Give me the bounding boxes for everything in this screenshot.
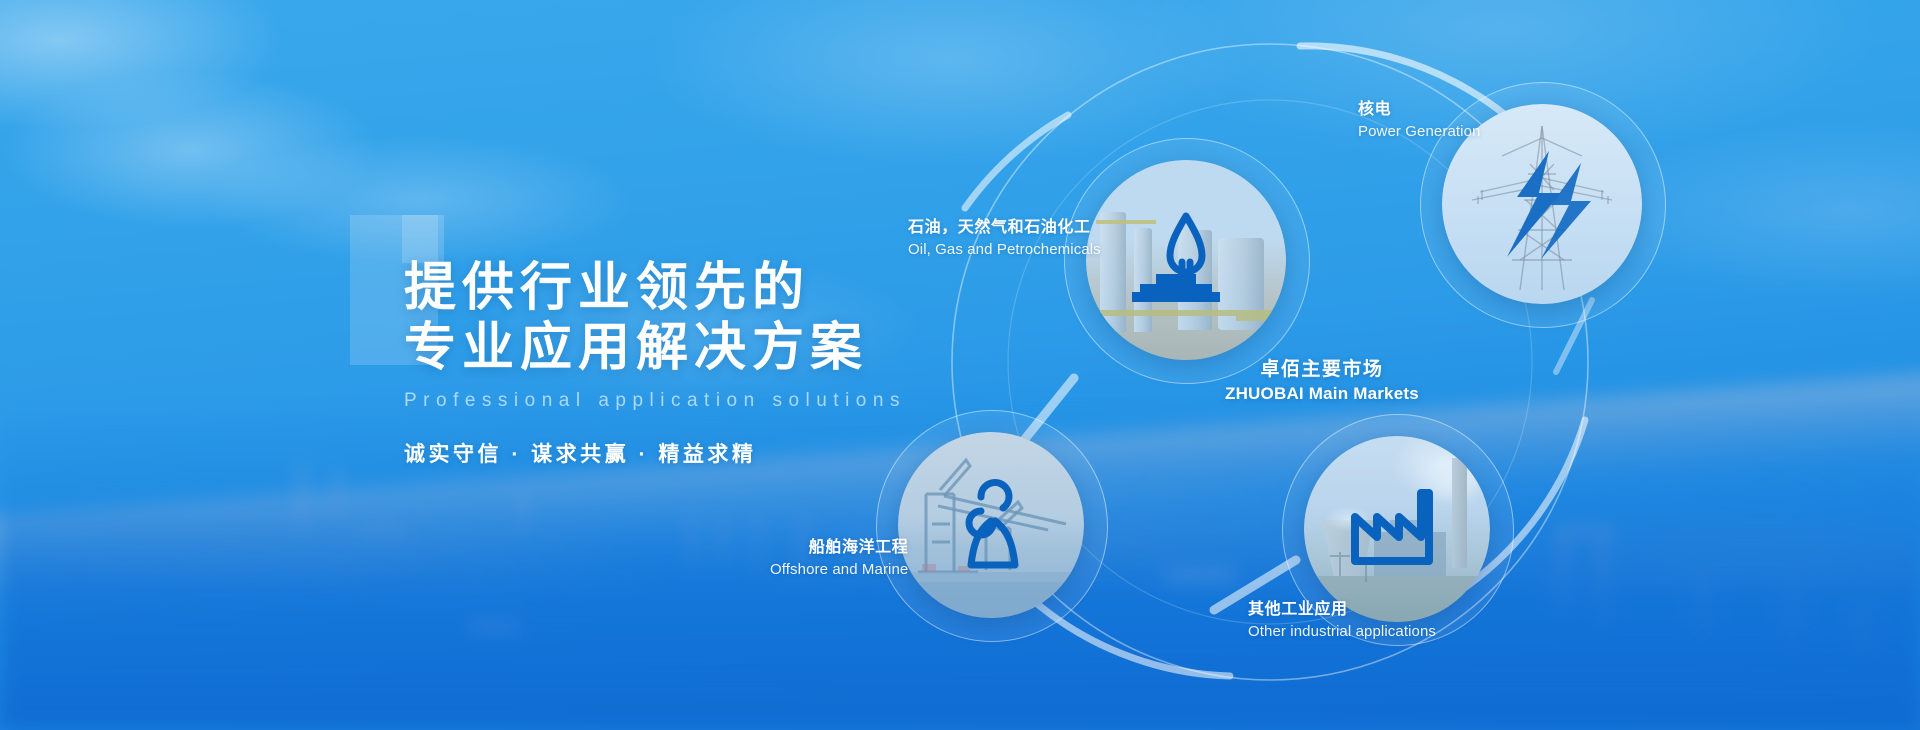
- node-photo-disc: [1304, 436, 1490, 622]
- node-photo-disc: [1086, 160, 1286, 360]
- label-market-power: 核电 Power Generation: [1358, 100, 1481, 142]
- hero-banner: 提供行业领先的 专业应用解决方案 Professional applicatio…: [0, 0, 1920, 730]
- gas-flame-icon: [1086, 160, 1286, 360]
- label-industry-en: Other industrial applications: [1248, 622, 1436, 642]
- headline-subtitle-english: Professional application solutions: [404, 390, 906, 412]
- headline-line-2: 专业应用解决方案: [404, 318, 906, 378]
- label-marine-zh: 船舶海洋工程: [770, 538, 908, 558]
- headline-block: 提供行业领先的 专业应用解决方案 Professional applicatio…: [404, 258, 906, 468]
- center-caption: 卓佰主要市场 ZHUOBAI Main Markets: [1225, 358, 1419, 405]
- headline-line-1: 提供行业领先的: [404, 258, 906, 318]
- node-photo-disc: [898, 432, 1084, 618]
- label-marine-en: Offshore and Marine: [770, 560, 908, 580]
- label-market-marine: 船舶海洋工程 Offshore and Marine: [770, 538, 908, 580]
- label-market-industry: 其他工业应用 Other industrial applications: [1248, 600, 1436, 642]
- headline-slogan: 诚实守信 · 谋求共赢 · 精益求精: [404, 438, 906, 468]
- label-oil-zh: 石油，天然气和石油化工: [908, 218, 1101, 238]
- market-node-marine[interactable]: [898, 432, 1084, 618]
- center-caption-en: ZHUOBAI Main Markets: [1225, 383, 1419, 405]
- label-industry-zh: 其他工业应用: [1248, 600, 1436, 620]
- label-oil-en: Oil, Gas and Petrochemicals: [908, 240, 1101, 260]
- market-node-industry[interactable]: [1304, 436, 1490, 622]
- factory-icon: [1304, 436, 1490, 622]
- market-node-oil[interactable]: [1086, 160, 1286, 360]
- center-caption-zh: 卓佰主要市场: [1225, 358, 1419, 382]
- label-power-zh: 核电: [1358, 100, 1481, 120]
- anchor-buoy-icon: [898, 432, 1084, 618]
- label-market-oil: 石油，天然气和石油化工 Oil, Gas and Petrochemicals: [908, 218, 1101, 260]
- label-power-en: Power Generation: [1358, 122, 1481, 142]
